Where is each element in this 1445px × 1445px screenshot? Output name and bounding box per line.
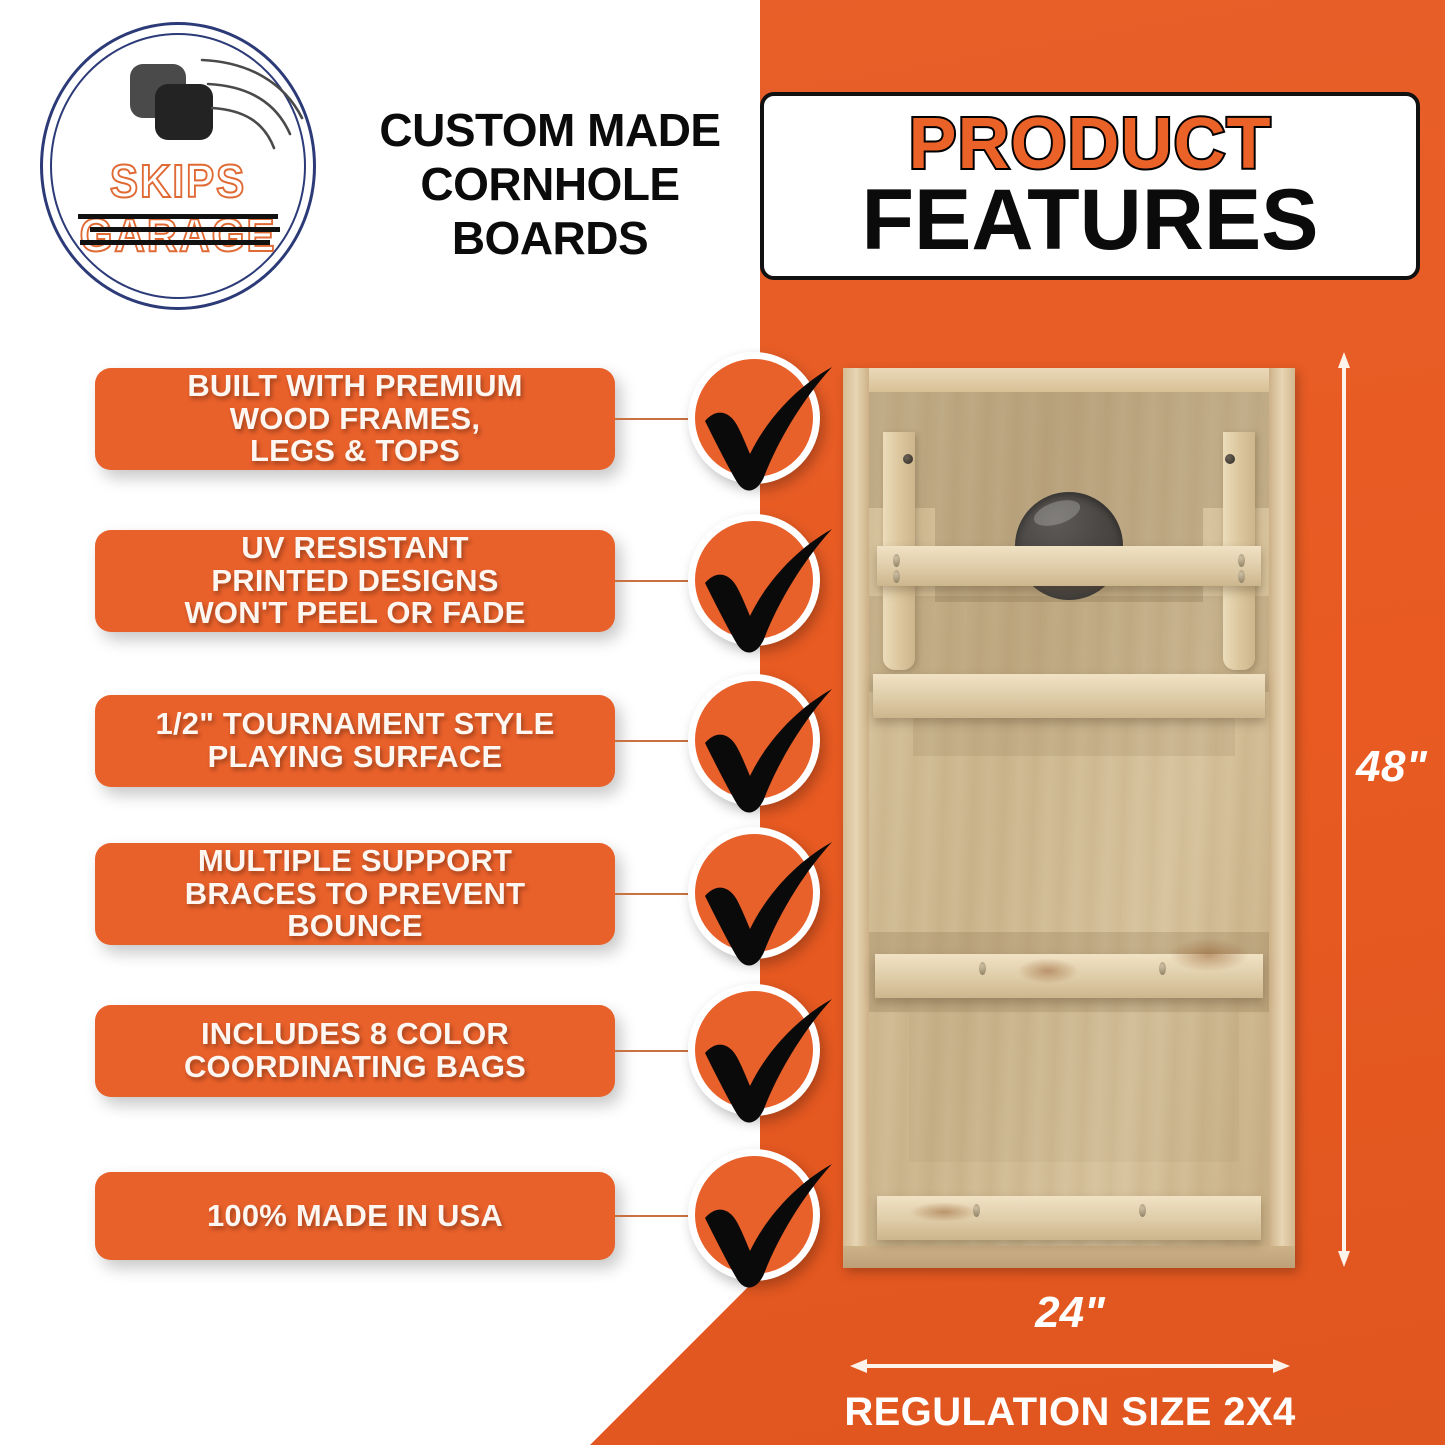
check-badge-icon bbox=[688, 827, 820, 959]
feature-pill: UV RESISTANT PRINTED DESIGNS WON'T PEEL … bbox=[95, 530, 615, 632]
brace-screw bbox=[1159, 962, 1166, 975]
brace-screw bbox=[1238, 570, 1245, 583]
product-photo-cornhole-board bbox=[843, 368, 1295, 1268]
check-badge-icon bbox=[688, 352, 820, 484]
check-badge-icon bbox=[688, 674, 820, 806]
support-brace-upper bbox=[877, 546, 1261, 586]
feature-pill: MULTIPLE SUPPORT BRACES TO PREVENT BOUNC… bbox=[95, 843, 615, 945]
height-dimension-arrow bbox=[1337, 352, 1351, 1267]
feature-label: 100% MADE IN USA bbox=[207, 1200, 503, 1233]
checkmark-icon bbox=[669, 812, 849, 982]
board-frame-bottom bbox=[843, 1246, 1295, 1268]
feature-label: 1/2" TOURNAMENT STYLE PLAYING SURFACE bbox=[156, 708, 555, 773]
feature-pill: 1/2" TOURNAMENT STYLE PLAYING SURFACE bbox=[95, 695, 615, 787]
feature-row: INCLUDES 8 COLOR COORDINATING BAGS bbox=[0, 1005, 830, 1155]
check-badge-icon bbox=[688, 984, 820, 1116]
regulation-size-note: REGULATION SIZE 2X4 bbox=[790, 1390, 1350, 1435]
support-brace-middle bbox=[873, 674, 1265, 718]
check-badge-icon bbox=[688, 514, 820, 646]
feature-label: UV RESISTANT PRINTED DESIGNS WON'T PEEL … bbox=[184, 532, 525, 630]
leg-bolt-right bbox=[1225, 454, 1235, 464]
checkmark-icon bbox=[669, 969, 849, 1139]
feature-label: MULTIPLE SUPPORT BRACES TO PREVENT BOUNC… bbox=[185, 845, 525, 943]
feature-pill: 100% MADE IN USA bbox=[95, 1172, 615, 1260]
brace-screw bbox=[893, 570, 900, 583]
feature-label: BUILT WITH PREMIUM WOOD FRAMES, LEGS & T… bbox=[187, 370, 522, 468]
wood-knot bbox=[1169, 938, 1249, 972]
height-dimension-label: 48" bbox=[1356, 742, 1427, 792]
brace-screw bbox=[1238, 554, 1245, 567]
checkmark-icon bbox=[669, 337, 849, 507]
checkmark-icon bbox=[669, 659, 849, 829]
board-frame-right bbox=[1269, 368, 1295, 1268]
leg-bolt-left bbox=[903, 454, 913, 464]
feature-row: UV RESISTANT PRINTED DESIGNS WON'T PEEL … bbox=[0, 530, 830, 680]
wood-knot bbox=[909, 1202, 979, 1222]
board-shadow-upper bbox=[869, 392, 1269, 508]
check-badge-icon bbox=[688, 1149, 820, 1281]
logo-rule-1 bbox=[78, 214, 278, 219]
board-frame-left bbox=[843, 368, 869, 1268]
board-shadow-bottom bbox=[909, 1012, 1239, 1162]
feature-label: INCLUDES 8 COLOR COORDINATING BAGS bbox=[184, 1018, 526, 1083]
board-frame-top bbox=[843, 368, 1295, 392]
feature-row: BUILT WITH PREMIUM WOOD FRAMES, LEGS & T… bbox=[0, 368, 830, 518]
board-inner-panel bbox=[869, 392, 1269, 1246]
banner-line-features: FEATURES bbox=[861, 180, 1318, 261]
logo-rule-2 bbox=[90, 227, 280, 232]
width-dimension-label: 24" bbox=[850, 1288, 1290, 1338]
brace-screw bbox=[893, 554, 900, 567]
brace-screw bbox=[979, 962, 986, 975]
hole-glint bbox=[1031, 495, 1083, 531]
motion-arc-icon bbox=[198, 56, 318, 156]
page-title: CUSTOM MADE CORNHOLE BOARDS bbox=[350, 104, 750, 265]
wood-knot bbox=[1017, 958, 1079, 984]
checkmark-icon bbox=[669, 1134, 849, 1304]
feature-pill: INCLUDES 8 COLOR COORDINATING BAGS bbox=[95, 1005, 615, 1097]
banner-line-product: PRODUCT bbox=[909, 111, 1272, 177]
feature-row: 100% MADE IN USA bbox=[0, 1172, 830, 1322]
brace-screw bbox=[1139, 1204, 1146, 1217]
brand-logo: SKIPS GARAGE bbox=[18, 14, 338, 314]
width-dimension-arrow bbox=[850, 1358, 1290, 1374]
logo-rule-3 bbox=[80, 240, 270, 245]
feature-pill: BUILT WITH PREMIUM WOOD FRAMES, LEGS & T… bbox=[95, 368, 615, 470]
checkmark-icon bbox=[669, 499, 849, 669]
infographic-canvas: SKIPS GARAGE CUSTOM MADE CORNHOLE BOARDS… bbox=[0, 0, 1445, 1445]
product-features-banner: PRODUCT FEATURES bbox=[760, 92, 1420, 280]
logo-wordmark: SKIPS GARAGE bbox=[26, 154, 330, 262]
